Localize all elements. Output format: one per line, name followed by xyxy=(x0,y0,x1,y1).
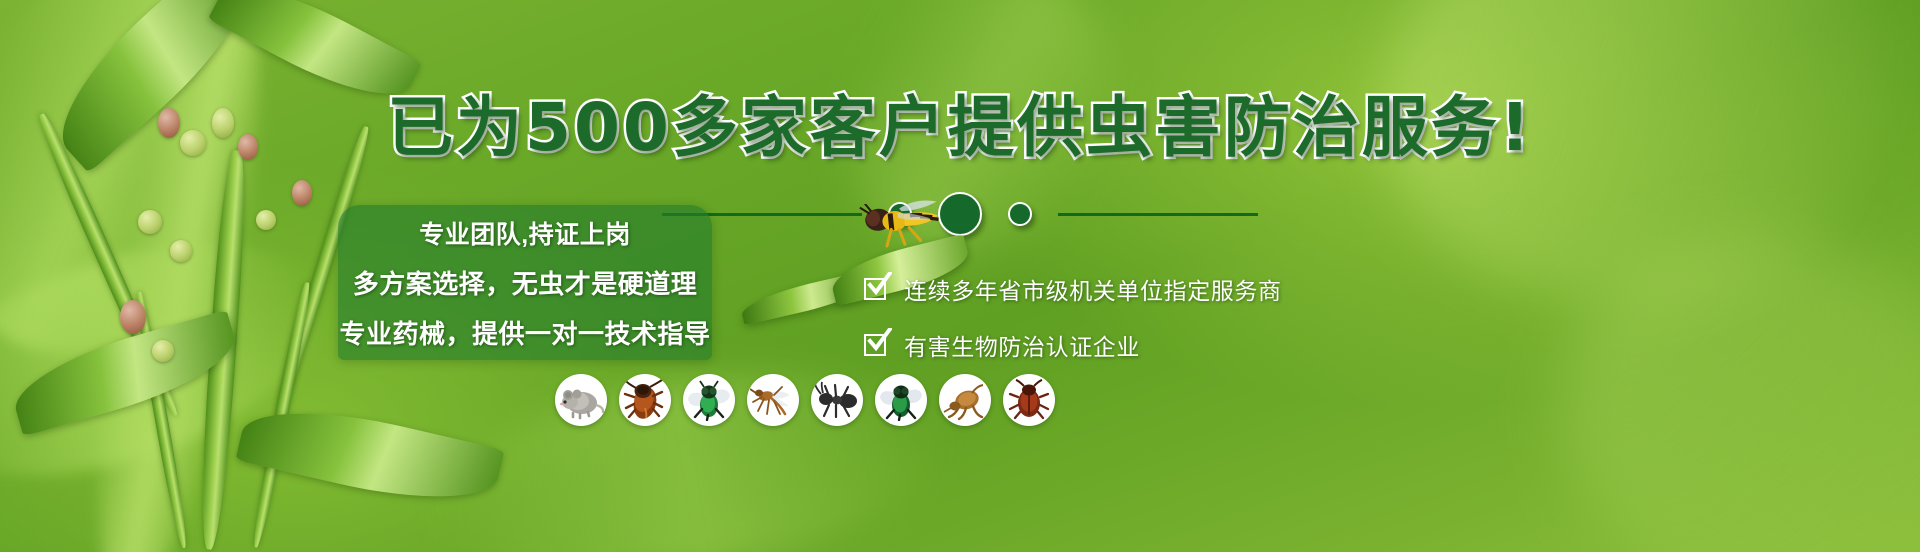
checkbox-checked-icon xyxy=(864,332,890,358)
checkbox-checked-icon xyxy=(864,276,890,302)
value-proposition-box: 专业团队,持证上岗 多方案选择，无虫才是硬道理 专业药械，提供一对一技术指导 xyxy=(338,205,712,360)
greenbottle-fly-icon[interactable] xyxy=(683,374,735,426)
pest-icon-row xyxy=(555,374,1055,426)
banner-headline-text: 已为500多家客户提供虫害防治服务! xyxy=(387,89,1533,166)
bud-shape xyxy=(152,340,174,362)
mouse-icon[interactable] xyxy=(555,374,607,426)
checklist-item-label: 连续多年省市级机关单位指定服务商 xyxy=(904,272,1282,306)
ant-icon[interactable] xyxy=(811,374,863,426)
bud-shape xyxy=(120,300,146,334)
checklist-item: 连续多年省市级机关单位指定服务商 xyxy=(864,272,1282,306)
bedbug-icon[interactable] xyxy=(1003,374,1055,426)
bud-shape xyxy=(170,240,192,262)
cockroach-icon[interactable] xyxy=(619,374,671,426)
mosquito-icon[interactable] xyxy=(747,374,799,426)
background-blade xyxy=(418,340,961,552)
hoverfly-icon xyxy=(853,195,958,257)
credentials-checklist: 连续多年省市级机关单位指定服务商 有害生物防治认证企业 xyxy=(864,272,1282,362)
checklist-item: 有害生物防治认证企业 xyxy=(864,328,1282,362)
copy-line-2: 多方案选择，无虫才是硬道理 xyxy=(353,264,698,301)
divider-dot-small-right-icon xyxy=(1008,202,1032,226)
flea-icon[interactable] xyxy=(939,374,991,426)
decorative-divider xyxy=(0,192,1920,236)
housefly-icon[interactable] xyxy=(875,374,927,426)
pest-control-banner: 已为500多家客户提供虫害防治服务! 专业团队,持证上岗 多方案选择，无虫才是硬… xyxy=(0,0,1920,552)
divider-line-right-icon xyxy=(1058,213,1258,216)
banner-headline: 已为500多家客户提供虫害防治服务! xyxy=(0,74,1920,170)
copy-line-1: 专业团队,持证上岗 xyxy=(419,215,630,251)
checklist-item-label: 有害生物防治认证企业 xyxy=(904,328,1140,362)
copy-line-3: 专业药械，提供一对一技术指导 xyxy=(339,314,710,351)
